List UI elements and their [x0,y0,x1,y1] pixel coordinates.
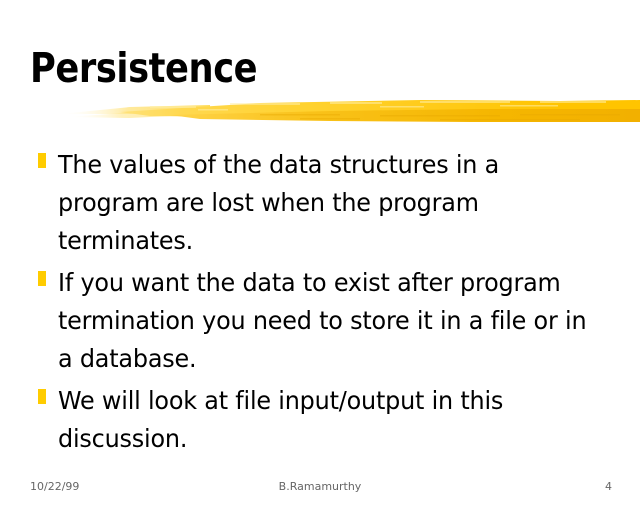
bullet-list: The values of the data structures in a p… [30,146,620,462]
footer-author: B.Ramamurthy [0,480,640,493]
square-bullet-icon [38,153,46,168]
page-title: Persistence [30,45,529,91]
presentation-slide: Persistence [0,0,640,512]
footer-page-number: 4 [605,480,612,493]
slide-footer: 10/22/99 B.Ramamurthy 4 [0,480,640,502]
list-item-text: The values of the data structures in a p… [58,146,595,260]
square-bullet-icon [38,271,46,286]
list-item-text: If you want the data to exist after prog… [58,264,595,378]
list-item: If you want the data to exist after prog… [30,264,620,378]
list-item-text: We will look at file input/output in thi… [58,382,595,458]
brush-stroke-divider-icon [0,92,640,132]
list-item: We will look at file input/output in thi… [30,382,620,458]
list-item: The values of the data structures in a p… [30,146,620,260]
square-bullet-icon [38,389,46,404]
